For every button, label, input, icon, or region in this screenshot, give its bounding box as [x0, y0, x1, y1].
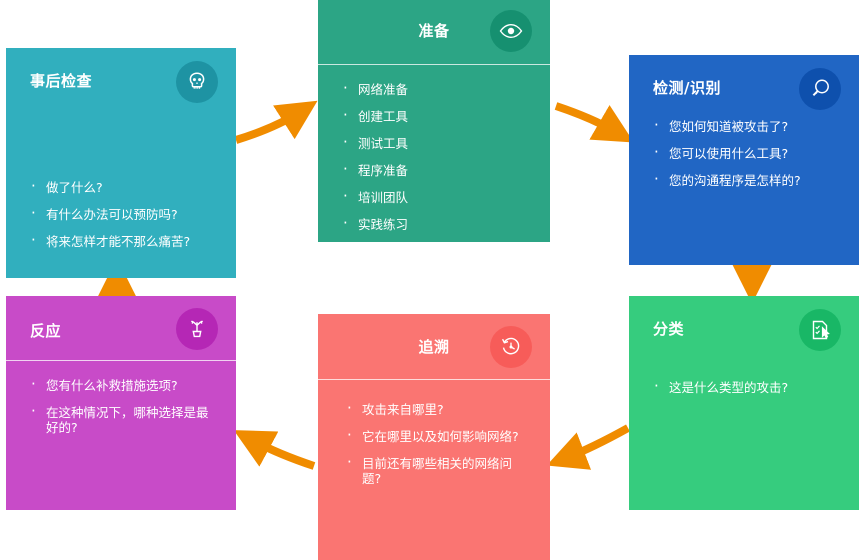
list-item: 将来怎样才能不那么痛苦? — [28, 234, 222, 249]
card-title: 反应 — [30, 320, 61, 341]
list-item: 您如何知道被攻击了? — [651, 119, 847, 134]
skull-icon — [176, 61, 218, 103]
sprout-icon — [176, 308, 218, 350]
list-item: 有什么办法可以预防吗? — [28, 207, 222, 222]
card-postmortem[interactable]: 事后检查 做了什么? 有什么办法可以预防吗? 将来怎样才能不那么痛苦? — [6, 48, 236, 278]
card-header: 分类 这是什么类型的攻击? — [629, 296, 859, 510]
card-bullet-list: 攻击来自哪里? 它在哪里以及如何影响网络? 目前还有哪些相关的网络问题? — [344, 402, 530, 498]
card-title: 分类 — [653, 318, 684, 339]
list-item: 在这种情况下，哪种选择是最好的? — [28, 405, 216, 435]
header-divider — [318, 379, 550, 380]
list-item: 您的沟通程序是怎样的? — [651, 173, 847, 188]
card-bullet-list: 您如何知道被攻击了? 您可以使用什么工具? 您的沟通程序是怎样的? — [651, 119, 847, 200]
list-item: 培训团队 — [340, 190, 536, 205]
list-item: 做了什么? — [28, 180, 222, 195]
list-item: 您可以使用什么工具? — [651, 146, 847, 161]
list-item: 这是什么类型的攻击? — [651, 380, 847, 395]
arrow-preparation-to-detection — [556, 106, 616, 132]
card-header: 事后检查 做了什么? 有什么办法可以预防吗? 将来怎样才能不那么痛苦? — [6, 48, 236, 278]
list-item: 实践练习 — [340, 217, 536, 232]
card-bullet-list: 您有什么补救措施选项? 在这种情况下，哪种选择是最好的? — [28, 378, 216, 447]
arrow-classification-to-traceback — [566, 428, 628, 458]
card-detection[interactable]: 检测/识别 您如何知道被攻击了? 您可以使用什么工具? 您的沟通程序是怎样的? — [629, 55, 859, 265]
card-classification[interactable]: 分类 这是什么类型的攻击? — [629, 296, 859, 510]
list-item: 测试工具 — [340, 136, 536, 151]
clock-history-icon — [490, 326, 532, 368]
arrow-postmortem-to-preparation — [236, 112, 300, 140]
card-title: 事后检查 — [30, 70, 92, 91]
list-item: 攻击来自哪里? — [344, 402, 530, 417]
card-response[interactable]: 反应 您有什么补救措施选项? 在这种情况下，哪种选择是最好的? — [6, 296, 236, 510]
card-preparation[interactable]: 准备 网络准备 创建工具 测试工具 程序准备 培训团队 实践练习 — [318, 0, 550, 242]
list-item: 您有什么补救措施选项? — [28, 378, 216, 393]
card-header: 检测/识别 您如何知道被攻击了? 您可以使用什么工具? 您的沟通程序是怎样的? — [629, 55, 859, 265]
card-bullet-list: 做了什么? 有什么办法可以预防吗? 将来怎样才能不那么痛苦? — [28, 180, 222, 261]
eye-icon — [490, 10, 532, 52]
list-item: 程序准备 — [340, 163, 536, 178]
card-header: 追溯 攻击来自哪里? 它在哪里以及如何影响网络? 目前还有哪些相关的网络问题? — [318, 314, 550, 560]
checklist-cursor-icon — [799, 309, 841, 351]
list-item: 目前还有哪些相关的网络问题? — [344, 456, 530, 486]
list-item: 网络准备 — [340, 82, 536, 97]
card-header: 准备 网络准备 创建工具 测试工具 程序准备 培训团队 实践练习 — [318, 0, 550, 242]
list-item: 创建工具 — [340, 109, 536, 124]
card-title: 检测/识别 — [653, 77, 721, 98]
card-bullet-list: 网络准备 创建工具 测试工具 程序准备 培训团队 实践练习 — [340, 82, 536, 242]
magnifier-icon — [799, 68, 841, 110]
header-divider — [318, 64, 550, 65]
card-bullet-list: 这是什么类型的攻击? — [651, 380, 847, 407]
card-traceback[interactable]: 追溯 攻击来自哪里? 它在哪里以及如何影响网络? 目前还有哪些相关的网络问题? — [318, 314, 550, 560]
diagram-canvas: 事后检查 做了什么? 有什么办法可以预防吗? 将来怎样才能不那么痛苦? 准备 — [0, 0, 865, 560]
card-header: 反应 您有什么补救措施选项? 在这种情况下，哪种选择是最好的? — [6, 296, 236, 510]
arrow-traceback-to-response — [252, 440, 314, 466]
list-item: 它在哪里以及如何影响网络? — [344, 429, 530, 444]
header-divider — [6, 360, 236, 361]
